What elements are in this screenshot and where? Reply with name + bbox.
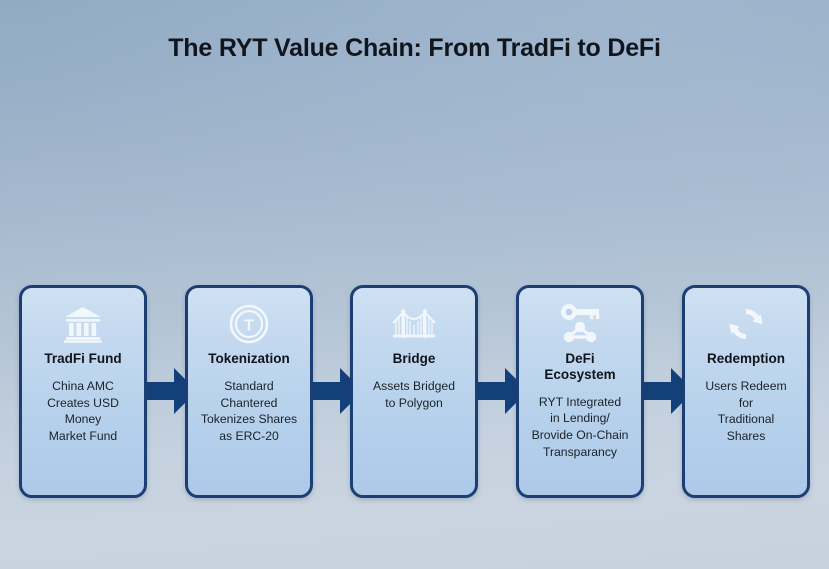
bank-icon — [60, 302, 106, 346]
page-title: The RYT Value Chain: From TradFi to DeFi — [0, 34, 829, 63]
step-title: TradFi Fund — [40, 351, 125, 367]
step-title: DeFi Ecosystem — [540, 351, 619, 383]
step-body: Users Redeem for Traditional Shares — [700, 378, 791, 444]
value-chain-diagram: TradFi Fund China AMC Creates USD Money … — [19, 285, 810, 498]
step-body: RYT Integrated in Lending/ Brovide On-Ch… — [527, 394, 634, 460]
step-card-redemption[interactable]: Redemption Users Redeem for Traditional … — [682, 285, 810, 498]
step-title: Redemption — [703, 351, 789, 367]
svg-text:T: T — [244, 318, 254, 335]
step-card-bridge[interactable]: Bridge Assets Bridged to Polygon — [350, 285, 478, 498]
step-card-defi-ecosystem[interactable]: DeFi Ecosystem RYT Integrated in Lending… — [516, 285, 644, 498]
step-title: Bridge — [389, 351, 440, 367]
refresh-cycle-icon — [723, 302, 769, 346]
step-body: Standard Chantered Tokenizes Shares as E… — [196, 378, 302, 444]
step-body: Assets Bridged to Polygon — [368, 378, 460, 411]
step-card-tradfi-fund[interactable]: TradFi Fund China AMC Creates USD Money … — [19, 285, 147, 498]
step-card-tokenization[interactable]: T Tokenization Standard Chantered Tokeni… — [185, 285, 313, 498]
key-network-icon — [557, 302, 603, 346]
step-body: China AMC Creates USD Money Market Fund — [42, 378, 124, 444]
bridge-icon — [391, 302, 437, 346]
token-coin-icon: T — [226, 302, 272, 346]
step-title: Tokenization — [204, 351, 294, 367]
